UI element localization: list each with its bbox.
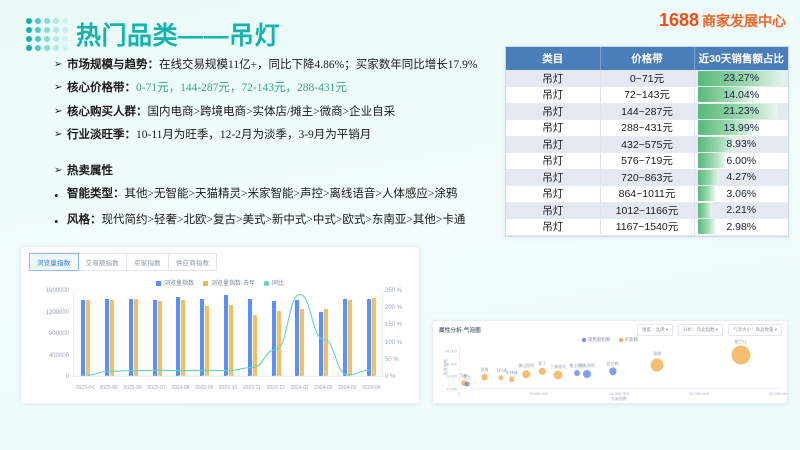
share-value: 8.93% [726,138,756,150]
chart-legend: 浏览量指数浏览量指数-去年同比 [21,278,419,287]
bubble-point[interactable] [522,370,530,378]
trend-plot: 040000080000012000001600000 0 %50 %100 %… [27,291,411,391]
bullet-value: 0-71元，144-287元，72-143元，288-431元 [136,82,347,94]
table-row: 吊灯288~431元13.99% [506,120,788,137]
bubble-point[interactable] [583,370,591,378]
y2-axis-tick: 150 % [385,322,411,328]
bullet-value: 国内电商>跨境电商>实体店/摊主>微商>企业自采 [148,106,396,118]
bubble-point[interactable] [539,368,545,374]
slide-root: 热门品类——吊灯 1688商家发展中心 ➢市场规模与趋势：在线交易规模11亿+，… [0,0,800,450]
y2-axis-tick: 50 % [385,357,411,363]
legend-swatch [264,281,269,286]
table-row: 吊灯1167~1540元2.98% [506,219,788,236]
bullet-row: •风格：现代简约>轻奢>北欧>复古>美式>新中式>中式>欧式>东南亚>其他>卡通 [54,213,504,230]
cell-category: 吊灯 [506,70,600,87]
cell-sales-share: 2.98% [694,219,788,236]
bubble-chart-title: 属性分析-气泡图 [439,326,481,334]
table-row: 吊灯864~1011元3.06% [506,186,788,203]
legend-swatch [203,281,208,286]
bubble-control-dropdown[interactable]: 气泡大小：商品数量 ▾ [728,324,782,336]
bubble-point[interactable] [574,370,580,376]
bubble-point[interactable] [465,381,470,386]
x-axis-tick: 2023-04 [73,385,97,391]
bullet-row: ➢核心价格带：0-71元，144-287元，72-143元，288-431元 [54,81,504,95]
bullet-text: 市场规模与趋势：在线交易规模11亿+，同比下降4.86%；买家数年同比增长17.… [67,58,477,72]
bullet-row: ➢核心购买人群：国内电商>跨境电商>实体店/摊主>微商>企业自采 [54,105,504,119]
x-axis-tick: 2023-08 [168,385,192,391]
bubble-label: 雅格 [653,351,661,357]
cell-sales-share: 13.99% [694,120,788,137]
bullet-value: 在线交易规模11亿+，同比下降4.86%；买家数年同比增长17.9% [159,59,477,71]
x-axis-tick: 2023-12 [264,385,288,391]
bullet-label: 行业淡旺季： [67,129,136,141]
x-axis-tick: 2024-03 [335,385,359,391]
bullet-marker-icon: ➢ [54,164,67,178]
table-row: 吊灯720~863元4.27% [506,169,788,186]
x-axis-tick: 2023-10 [216,385,240,391]
chart-tab[interactable]: 买家指数 [126,253,169,271]
y-axis-tick: 800000 [27,331,69,337]
bubble-point[interactable] [498,375,503,380]
bullet-value: 其他>无智能>天猫精灵>米家智能>声控>离线语音>人体感应>涂鸦 [125,188,458,200]
bubble-control-dropdown[interactable]: 维度：品牌 ▾ [637,324,673,336]
cell-price-band: 72~143元 [600,87,694,104]
column-header-sales-share: 近30天销售额占比 [694,47,788,70]
chart-tab-bar[interactable]: 浏览量指数交易额指数买家指数供应商指数 [29,253,419,271]
cell-category: 吊灯 [506,186,600,203]
bullet-row: ➢市场规模与趋势：在线交易规模11亿+，同比下降4.86%；买家数年同比增长17… [54,58,504,72]
share-value: 4.27% [726,171,756,183]
cell-category: 吊灯 [506,136,600,153]
yoy-line [74,291,383,376]
table-header-row: 类目 价格带 近30天销售额占比 [506,47,788,70]
bubble-y-axis-title: 搜索指数 [443,359,449,375]
bullet-text: 核心价格带：0-71元，144-287元，72-143元，288-431元 [67,81,347,95]
bullet-marker-icon: ➢ [54,128,67,142]
bubble-point[interactable] [481,374,488,381]
share-value: 21.23% [723,105,759,117]
cell-sales-share: 2.21% [694,202,788,219]
bullet-marker-icon: • [54,213,67,230]
data-bar [698,219,715,234]
table-row: 吊灯576~719元6.00% [506,153,788,170]
cell-sales-share: 6.00% [694,153,788,170]
bubble-label: 松下 [538,361,546,367]
bullet-label: 热卖属性 [67,165,113,177]
bullet-marker-icon: ➢ [54,58,67,72]
cell-sales-share: 3.06% [694,186,788,203]
table-row: 吊灯1012~1166元2.21% [506,202,788,219]
bubble-point[interactable] [609,368,616,375]
bubble-point[interactable] [509,377,515,383]
cell-sales-share: 8.93% [694,136,788,153]
legend-dot [582,338,586,342]
cell-price-band: 288~431元 [600,120,694,137]
bullet-list: ➢市场规模与趋势：在线交易规模11亿+，同比下降4.86%；买家数年同比增长17… [54,58,504,239]
cell-price-band: 1012~1166元 [600,202,694,219]
bullet-label: 智能类型： [67,188,125,200]
cell-category: 吊灯 [506,202,600,219]
bubble-label: 雷士 [463,374,471,380]
bubble-x-tick: 32,000,000 [769,391,788,396]
bubble-label: 欧司朗 [607,361,619,367]
bubble-chart-controls[interactable]: 维度：品牌 ▾分析：热卖指数 ▾气泡大小：商品数量 ▾ [637,324,782,336]
legend-item[interactable]: 浏览量指数-去年 [203,278,255,287]
bubble-label: 飞利浦 [495,368,507,374]
bullet-marker-icon: ➢ [54,81,67,95]
bullet-row: ➢行业淡旺季：10-11月为旺季，12-2月为淡季，3-9月为平销月 [54,128,504,142]
bubble-x-tick: 24,000,000 [689,391,709,396]
brand-number: 1688 [659,10,699,30]
x-axis-tick: 2023-05 [97,385,121,391]
bullet-text: 风格：现代简约>轻奢>北欧>复古>美式>新中式>中式>欧式>东南亚>其他>卡通 [67,213,465,227]
y-axis-tick: 1600000 [27,288,69,294]
bubble-label: 阳光照明 [579,363,595,369]
bullet-text: 智能类型：其他>无智能>天猫精灵>米家智能>声控>离线语音>人体感应>涂鸦 [67,187,457,201]
share-value: 13.99% [723,122,759,134]
cell-sales-share: 14.04% [694,87,788,104]
cell-category: 吊灯 [506,120,600,137]
x-axis-labels: 2023-042023-052023-062023-072023-082023-… [73,385,383,391]
data-bar [698,170,720,185]
data-bar [698,186,716,201]
bubble-label: 佛山照明 [518,363,534,369]
cell-category: 吊灯 [506,169,600,186]
share-value: 6.00% [726,155,756,167]
bullet-value: 10-11月为旺季，12-2月为淡季，3-9月为平销月 [136,129,371,141]
plot-area [73,291,383,377]
share-value: 23.27% [723,72,759,84]
cell-sales-share: 4.27% [694,169,788,186]
column-header-category: 类目 [506,47,600,70]
table-row: 吊灯144~287元21.23% [506,103,788,120]
share-value: 2.21% [726,204,756,216]
page-title: 热门品类——吊灯 [76,16,280,52]
cell-sales-share: 23.27% [694,70,788,87]
bullet-text: 热卖属性 [67,164,113,178]
bubble-x-tick: 0 [458,391,460,396]
y2-axis-tick: 250 % [385,288,411,294]
x-axis-tick: 2024-04 [359,385,383,391]
legend-dot [619,338,623,342]
bubble-chart-card: 属性分析-气泡图 维度：品牌 ▾分析：热卖指数 ▾气泡大小：商品数量 ▾ 销售额… [432,320,788,404]
bullet-row: •智能类型：其他>无智能>天猫精灵>米家智能>声控>离线语音>人体感应>涂鸦 [54,187,504,204]
bullet-marker-icon: • [54,187,67,204]
chart-tab[interactable]: 浏览量指数 [29,253,79,271]
legend-item[interactable]: 浏览量指数 [156,278,194,287]
data-bar [698,203,713,218]
bubble-label: 格兰仕 [735,339,747,345]
bubble-x-axis-title: 交易指数 [611,396,627,402]
bullet-value: 现代简约>轻奢>北欧>复古>美式>新中式>中式>欧式>东南亚>其他>卡通 [102,214,466,226]
bubble-y-tick: 0.000 [447,387,457,392]
cell-price-band: 144~287元 [600,103,694,120]
bubble-point[interactable] [731,346,750,365]
legend-item[interactable]: 同比 [264,278,284,287]
x-axis-tick: 2023-11 [240,385,264,391]
bullet-label: 市场规模与趋势： [67,59,159,71]
bubble-control-dropdown[interactable]: 分析：热卖指数 ▾ [678,324,723,336]
cell-category: 吊灯 [506,153,600,170]
bullet-row: ➢热卖属性 [54,164,504,178]
bubble-label: 三雄极光 [550,364,566,370]
chart-tab[interactable]: 交易额指数 [78,253,128,271]
bubble-plot-area: 华帝雷士欧普飞利浦木林森佛山照明松下三雄极光雷士照明阳光照明欧司朗雅格格兰仕 0… [459,343,779,389]
bullet-marker-icon: ➢ [54,105,67,119]
cell-category: 吊灯 [506,87,600,104]
share-value: 14.04% [723,89,759,101]
trend-chart-card: 浏览量指数交易额指数买家指数供应商指数 浏览量指数浏览量指数-去年同比 0400… [20,246,420,404]
y2-axis-tick: 200 % [385,305,411,311]
cell-price-band: 576~719元 [600,153,694,170]
data-bar [698,153,726,168]
table-row: 吊灯72~143元14.04% [506,87,788,104]
y-axis-tick: 1200000 [27,310,69,316]
table-row: 吊灯432~575元8.93% [506,136,788,153]
brand-text: 商家发展中心 [702,13,786,29]
cell-category: 吊灯 [506,219,600,236]
bubble-label: 木林森 [506,370,518,376]
bullet-label: 核心价格带： [67,82,136,94]
x-axis-tick: 2023-06 [121,385,145,391]
brand-logo: 1688商家发展中心 [659,10,786,31]
cell-price-band: 720~863元 [600,169,694,186]
bubble-point[interactable] [651,358,664,371]
bullet-label: 风格： [67,214,102,226]
cell-price-band: 432~575元 [600,136,694,153]
y-axis-tick: 0 [27,374,69,380]
cell-sales-share: 21.23% [694,103,788,120]
column-header-price-band: 价格带 [600,47,694,70]
x-axis-tick: 2024-01 [288,385,312,391]
chart-tab[interactable]: 供应商指数 [168,253,218,271]
cell-price-band: 0~71元 [600,70,694,87]
bubble-point[interactable] [554,371,563,380]
x-axis-tick: 2023-09 [192,385,216,391]
y2-axis-tick: 100 % [385,340,411,346]
dot-grid-logo-icon [26,18,69,52]
y2-axis-tick: 0 % [385,374,411,380]
slide-header: 热门品类——吊灯 1688商家发展中心 [0,0,800,48]
bubble-y-tick: 24.000 [445,349,457,354]
bubble-label: 欧普 [481,367,489,373]
cell-price-band: 1167~1540元 [600,219,694,236]
legend-swatch [156,281,161,286]
bullet-text: 行业淡旺季：10-11月为旺季，12-2月为淡季，3-9月为平销月 [67,128,371,142]
x-axis-tick: 2024-02 [311,385,335,391]
x-axis-tick: 2023-07 [145,385,169,391]
share-value: 2.98% [726,221,756,233]
bubble-x-tick: 8,000,000 [530,391,548,396]
cell-price-band: 864~1011元 [600,186,694,203]
share-value: 3.06% [726,188,756,200]
table-row: 吊灯0~71元23.27% [506,70,788,87]
price-band-table: 类目 价格带 近30天销售额占比 吊灯0~71元23.27%吊灯72~143元1… [505,46,789,237]
cell-category: 吊灯 [506,103,600,120]
bullet-label: 核心购买人群： [67,106,148,118]
bullet-text: 核心购买人群：国内电商>跨境电商>实体店/摊主>微商>企业自采 [67,105,395,119]
y-axis-tick: 400000 [27,353,69,359]
